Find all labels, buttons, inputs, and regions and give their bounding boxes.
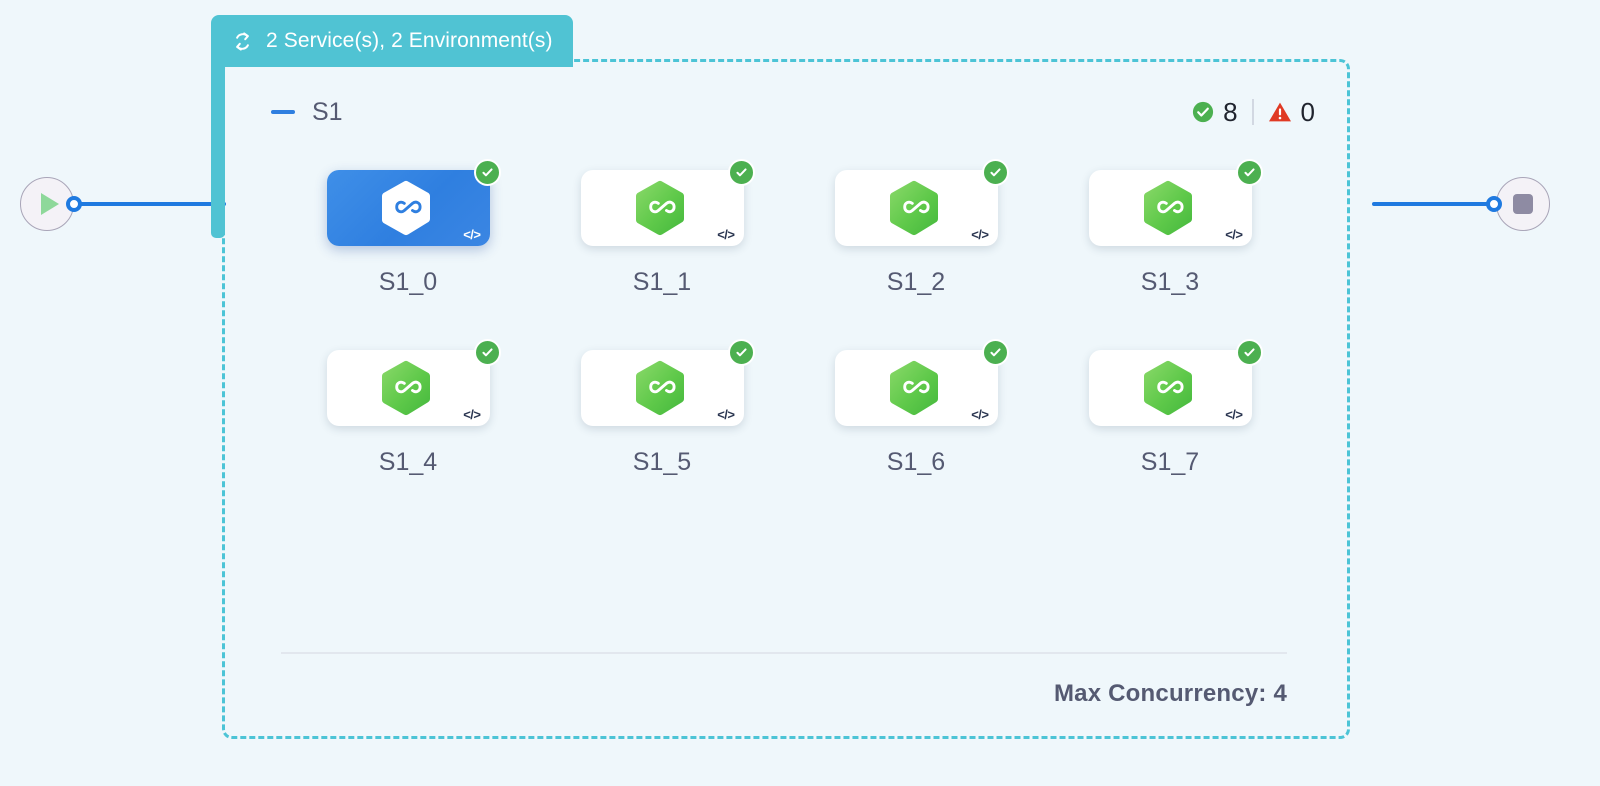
minus-icon[interactable]	[271, 110, 295, 114]
node-label: S1_5	[633, 448, 691, 477]
node-cell-s1_6: </> S1_6	[789, 350, 1043, 477]
group-tab-label: 2 Service(s), 2 Environment(s)	[266, 29, 553, 53]
group-title-wrap: S1	[271, 98, 343, 127]
code-icon[interactable]: </>	[717, 227, 734, 242]
status-success: 8	[1192, 97, 1237, 128]
check-circle-icon	[728, 159, 755, 186]
stop-icon	[1513, 194, 1533, 214]
node-label: S1_1	[633, 268, 691, 297]
check-circle-icon	[982, 159, 1009, 186]
code-icon[interactable]: </>	[463, 227, 480, 242]
code-icon[interactable]: </>	[971, 227, 988, 242]
node-cell-s1_0: </> S1_0	[281, 170, 535, 297]
hexagon-loop-icon	[1143, 359, 1197, 417]
play-icon	[41, 193, 59, 215]
node-label: S1_0	[379, 268, 437, 297]
group-tab[interactable]: 2 Service(s), 2 Environment(s)	[211, 15, 573, 67]
hexagon-loop-icon	[635, 359, 689, 417]
node-label: S1_7	[1141, 448, 1199, 477]
node-row: </> S1_4 </> S1_5	[281, 350, 1297, 477]
warning-triangle-icon	[1268, 101, 1292, 123]
check-circle-icon	[982, 339, 1009, 366]
service-node-card[interactable]: </>	[835, 170, 998, 246]
node-cell-s1_1: </> S1_1	[535, 170, 789, 297]
node-cell-s1_2: </> S1_2	[789, 170, 1043, 297]
hexagon-loop-icon	[1143, 179, 1197, 237]
node-label: S1_2	[887, 268, 945, 297]
service-node-card[interactable]: </>	[327, 350, 490, 426]
hexagon-loop-icon	[635, 179, 689, 237]
flow-canvas[interactable]: 2 Service(s), 2 Environment(s) S1 8	[0, 0, 1600, 786]
footer-divider	[281, 652, 1287, 654]
check-circle-icon	[1236, 339, 1263, 366]
status-divider	[1252, 99, 1254, 125]
code-icon[interactable]: </>	[717, 407, 734, 422]
code-icon[interactable]: </>	[971, 407, 988, 422]
service-node-card[interactable]: </>	[581, 170, 744, 246]
status-warning: 0	[1268, 97, 1315, 128]
node-grid: </> S1_0 </> S1_1	[281, 170, 1297, 530]
end-node-target-handle[interactable]	[1486, 196, 1502, 212]
node-cell-s1_3: </> S1_3	[1043, 170, 1297, 297]
code-icon[interactable]: </>	[463, 407, 480, 422]
node-label: S1_4	[379, 448, 437, 477]
status-summary: 8 0	[1192, 97, 1315, 128]
hexagon-loop-icon	[889, 359, 943, 417]
check-circle-icon	[474, 339, 501, 366]
code-icon[interactable]: </>	[1225, 227, 1242, 242]
edge-start-to-group[interactable]	[78, 202, 226, 206]
max-concurrency-label: Max Concurrency: 4	[281, 680, 1287, 708]
group-header: S1 8 0	[271, 94, 1315, 130]
code-icon[interactable]: </>	[1225, 407, 1242, 422]
service-node-card[interactable]: </>	[581, 350, 744, 426]
group-footer: Max Concurrency: 4	[281, 652, 1287, 708]
node-cell-s1_5: </> S1_5	[535, 350, 789, 477]
loop-icon	[230, 29, 255, 54]
service-node-card[interactable]: </>	[835, 350, 998, 426]
service-node-card[interactable]: </>	[327, 170, 490, 246]
check-circle-icon	[728, 339, 755, 366]
group-container[interactable]: S1 8 0	[222, 59, 1350, 739]
node-row: </> S1_0 </> S1_1	[281, 170, 1297, 297]
service-node-card[interactable]: </>	[1089, 350, 1252, 426]
status-success-count: 8	[1223, 97, 1237, 128]
node-label: S1_6	[887, 448, 945, 477]
start-node-source-handle[interactable]	[66, 196, 82, 212]
node-cell-s1_7: </> S1_7	[1043, 350, 1297, 477]
check-circle-icon	[1236, 159, 1263, 186]
hexagon-loop-icon	[889, 179, 943, 237]
node-label: S1_3	[1141, 268, 1199, 297]
service-node-card[interactable]: </>	[1089, 170, 1252, 246]
group-left-rail	[211, 60, 225, 238]
hexagon-loop-icon	[381, 359, 435, 417]
check-circle-icon	[474, 159, 501, 186]
node-cell-s1_4: </> S1_4	[281, 350, 535, 477]
status-warning-count: 0	[1301, 97, 1315, 128]
check-circle-icon	[1192, 101, 1214, 123]
end-node[interactable]	[1496, 177, 1550, 231]
hexagon-loop-icon	[381, 179, 435, 237]
edge-group-to-end[interactable]	[1372, 202, 1494, 206]
group-title: S1	[312, 98, 343, 127]
